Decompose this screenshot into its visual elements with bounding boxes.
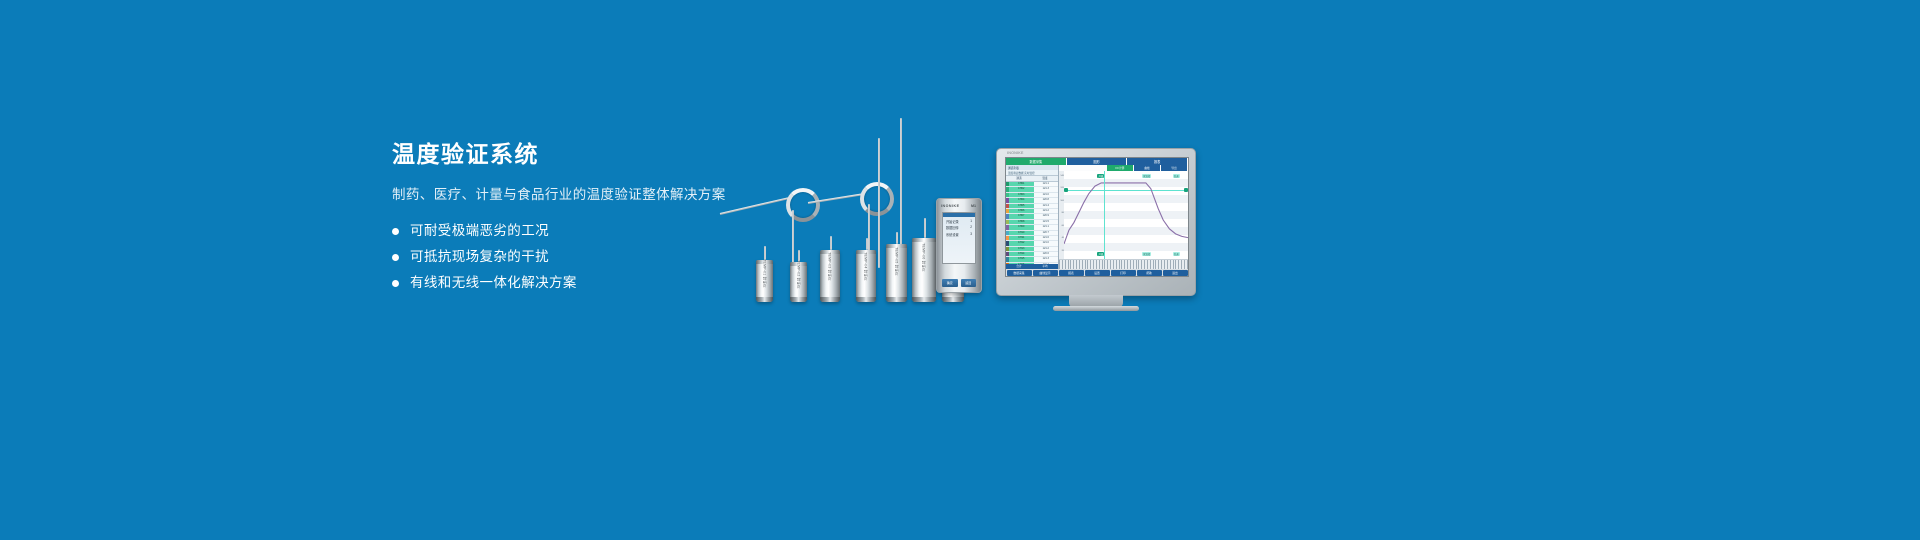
handheld-model-label: M1 bbox=[971, 204, 976, 208]
tab-graph[interactable]: 图形 bbox=[1067, 158, 1128, 165]
x-axis-tick bbox=[1082, 260, 1083, 269]
x-axis-tick bbox=[1175, 260, 1176, 269]
x-axis-tick bbox=[1138, 260, 1139, 269]
channel-value-cell: 121.2 bbox=[1034, 209, 1059, 213]
channel-value-cell: 121.2 bbox=[1034, 247, 1059, 251]
x-axis-tick bbox=[1065, 260, 1066, 269]
chart-x-axis bbox=[1059, 259, 1188, 269]
handheld-menu-value: 2 bbox=[970, 225, 972, 230]
channel-name-cell: CH10 bbox=[1009, 231, 1034, 235]
channel-name-cell: CH03 bbox=[1009, 193, 1034, 197]
x-axis-tick bbox=[1133, 260, 1134, 269]
x-axis-tick bbox=[1187, 260, 1188, 269]
channel-name-cell: CH07 bbox=[1009, 214, 1034, 218]
x-axis-tick bbox=[1161, 260, 1162, 269]
monitor-base bbox=[1053, 306, 1139, 311]
bullet-dot-icon bbox=[392, 280, 399, 287]
channel-name-cell: CH12 bbox=[1009, 241, 1034, 245]
channel-name-cell: CH05 bbox=[1009, 204, 1034, 208]
x-axis-tick bbox=[1073, 260, 1074, 269]
chart-panel: F0 计算 曲线 导出 14012010080604020 开始 bbox=[1059, 165, 1188, 269]
column-header-temp: 温度 bbox=[1032, 176, 1058, 181]
x-axis-tick bbox=[1093, 260, 1094, 269]
x-axis-tick bbox=[1068, 260, 1069, 269]
x-axis-tick bbox=[1079, 260, 1080, 269]
x-axis-tick bbox=[1121, 260, 1122, 269]
feature-bullet-label: 可耐受极端恶劣的工况 bbox=[410, 222, 549, 240]
data-logger: TEMP-02 验证仪 bbox=[790, 262, 807, 302]
x-axis-tick bbox=[1124, 260, 1125, 269]
software-bottom-toolbar: 数据采集曲线显示报表设置打印帮助退出 bbox=[1006, 269, 1188, 276]
channel-name-cell: CH01 bbox=[1009, 182, 1034, 186]
x-axis-tick bbox=[1158, 260, 1159, 269]
x-axis-tick bbox=[1130, 260, 1131, 269]
channel-name-cell: CH14 bbox=[1009, 252, 1034, 256]
channel-value-cell: 120.6 bbox=[1034, 252, 1059, 256]
x-axis-tick bbox=[1113, 260, 1114, 269]
x-axis-tick bbox=[1116, 260, 1117, 269]
software-body: 通道列表 温度验证数据 实时监控 通道 温度 CH01121.1CH02121.… bbox=[1006, 165, 1188, 269]
channel-value-cell: 121.4 bbox=[1034, 204, 1059, 208]
probe-needle bbox=[792, 210, 794, 268]
data-logger: TEMP-01 验证仪 bbox=[756, 260, 773, 302]
validation-software-monitor: INONIKE 数据采集 图形 报表 通道列表 温度验证数据 实时监控 通道 温… bbox=[996, 148, 1196, 296]
x-axis-tick bbox=[1096, 260, 1097, 269]
logger-label: TEMP-03 验证仪 bbox=[828, 252, 833, 281]
handheld-menu-row[interactable]: 系统设置 3 bbox=[943, 230, 975, 237]
x-axis-tick bbox=[1136, 260, 1137, 269]
channel-value-cell: 121.0 bbox=[1034, 193, 1059, 197]
toolbar-button[interactable]: 打印 bbox=[1111, 270, 1136, 276]
channel-name-cell: CH15 bbox=[1009, 257, 1034, 261]
cursor-tag-start-bottom: 开始 bbox=[1097, 252, 1104, 256]
x-axis-tick bbox=[1085, 260, 1086, 269]
logger-stem bbox=[830, 236, 832, 250]
x-axis-tick bbox=[1173, 260, 1174, 269]
cursor-tag-end-bottom: 结束 bbox=[1173, 252, 1180, 256]
tab-report[interactable]: 报表 bbox=[1127, 158, 1188, 165]
hero-banner: 温度验证系统 制药、医疗、计量与食品行业的温度验证整体解决方案 可耐受极端恶劣的… bbox=[0, 0, 1920, 540]
toolbar-button[interactable]: 数据采集 bbox=[1007, 270, 1032, 276]
column-header-channel: 通道 bbox=[1006, 176, 1032, 181]
cursor-tag-end: 结束 bbox=[1173, 174, 1180, 178]
channel-value-cell: 121.1 bbox=[1034, 182, 1059, 186]
x-axis-tick bbox=[1150, 260, 1151, 269]
x-axis-tick bbox=[1141, 260, 1142, 269]
x-axis-tick bbox=[1087, 260, 1088, 269]
handheld-menu-value: 3 bbox=[970, 232, 972, 237]
x-axis-tick bbox=[1144, 260, 1145, 269]
logger-label: TEMP-01 验证仪 bbox=[762, 259, 767, 288]
handheld-key-back[interactable]: 返回 bbox=[961, 279, 977, 287]
toolbar-button[interactable]: 退出 bbox=[1163, 270, 1188, 276]
logger-stem bbox=[896, 232, 898, 244]
monitor-screen: 数据采集 图形 报表 通道列表 温度验证数据 实时监控 通道 温度 CH0112… bbox=[1005, 157, 1189, 277]
handheld-key-confirm[interactable]: 确定 bbox=[942, 279, 958, 287]
handheld-menu-value: 1 bbox=[970, 219, 972, 224]
handheld-brand-label: INONIKE bbox=[941, 204, 959, 208]
data-logger: TEMP-03 验证仪 bbox=[820, 250, 840, 302]
product-photo-group: TEMP-01 验证仪 TEMP-02 验证仪 TEMP-03 验证仪 TEMP… bbox=[700, 110, 1220, 325]
temperature-curve bbox=[1064, 171, 1188, 259]
logger-stem bbox=[764, 246, 766, 260]
x-axis-tick bbox=[1178, 260, 1179, 269]
channel-name-cell: CH11 bbox=[1009, 236, 1034, 240]
x-axis-tick bbox=[1167, 260, 1168, 269]
channel-value-cell: 121.3 bbox=[1034, 187, 1059, 191]
feature-bullet-label: 有线和无线一体化解决方案 bbox=[410, 274, 577, 292]
x-axis-tick bbox=[1110, 260, 1111, 269]
cursor-tag-hold: 保温段 bbox=[1142, 174, 1151, 178]
handheld-reader-device[interactable]: INONIKE M1 开始记录 1 数据回传 2 系统设置 3 确定 bbox=[936, 198, 982, 293]
cursor-tag-start-top: 开始 bbox=[1097, 174, 1104, 178]
data-logger: TEMP-06 验证仪 bbox=[912, 238, 936, 302]
x-axis-tick bbox=[1076, 260, 1077, 269]
toolbar-button[interactable]: 报表 bbox=[1059, 270, 1084, 276]
channel-value-cell: 121.0 bbox=[1034, 241, 1059, 245]
logger-label: TEMP-04 验证仪 bbox=[864, 252, 869, 281]
channel-value-cell: 120.8 bbox=[1034, 198, 1059, 202]
data-logger: TEMP-04 验证仪 bbox=[856, 250, 876, 302]
x-axis-tick bbox=[1147, 260, 1148, 269]
handheld-keypad: 确定 返回 bbox=[942, 279, 976, 287]
toolbar-button[interactable]: 设置 bbox=[1085, 270, 1110, 276]
probe-wire bbox=[720, 197, 791, 215]
x-axis-tick bbox=[1119, 260, 1120, 269]
x-axis-tick bbox=[1099, 260, 1100, 269]
channel-value-cell: 121.6 bbox=[1034, 236, 1059, 240]
temperature-chart: 14012010080604020 开始 开始 保温段 保温段 结束 结束 bbox=[1059, 171, 1188, 259]
channel-value-cell: 120.7 bbox=[1034, 231, 1059, 235]
data-logger: TEMP-05 验证仪 bbox=[886, 244, 907, 302]
feature-bullet-label: 可抵抗现场复杂的干扰 bbox=[410, 248, 549, 266]
toolbar-button[interactable]: 帮助 bbox=[1137, 270, 1162, 276]
handheld-screen: 开始记录 1 数据回传 2 系统设置 3 bbox=[942, 212, 976, 264]
channel-table: 通道列表 温度验证数据 实时监控 通道 温度 CH01121.1CH02121.… bbox=[1006, 165, 1059, 269]
x-axis-tick bbox=[1184, 260, 1185, 269]
logger-stem bbox=[866, 238, 868, 250]
x-axis-tick bbox=[1090, 260, 1091, 269]
x-axis-tick bbox=[1155, 260, 1156, 269]
handheld-menu-label: 数据回传 bbox=[946, 225, 959, 230]
x-axis-tick bbox=[1104, 260, 1105, 269]
channel-value-cell: 121.1 bbox=[1034, 225, 1059, 229]
x-axis-tick bbox=[1153, 260, 1154, 269]
channel-name-cell: CH08 bbox=[1009, 220, 1034, 224]
logger-stem bbox=[924, 218, 926, 238]
bullet-dot-icon bbox=[392, 228, 399, 235]
x-axis-tick bbox=[1164, 260, 1165, 269]
channel-name-cell: CH06 bbox=[1009, 209, 1034, 213]
x-axis-tick bbox=[1070, 260, 1071, 269]
channel-table-rows: CH01121.1CH02121.3CH03121.0CH04120.8CH05… bbox=[1006, 182, 1058, 264]
channel-name-cell: CH13 bbox=[1009, 247, 1034, 251]
x-axis-tick bbox=[1127, 260, 1128, 269]
tab-data-acquisition[interactable]: 数据采集 bbox=[1006, 158, 1067, 165]
logger-label: TEMP-06 验证仪 bbox=[922, 243, 927, 272]
bullet-dot-icon bbox=[392, 254, 399, 261]
toolbar-button[interactable]: 曲线显示 bbox=[1033, 270, 1058, 276]
x-axis-tick bbox=[1170, 260, 1171, 269]
logger-label: TEMP-05 验证仪 bbox=[894, 247, 899, 276]
software-top-tabs: 数据采集 图形 报表 bbox=[1006, 158, 1188, 165]
channel-name-cell: CH09 bbox=[1009, 225, 1034, 229]
series-line bbox=[1064, 183, 1188, 244]
logger-label: TEMP-02 验证仪 bbox=[796, 261, 801, 290]
channel-value-cell: 120.9 bbox=[1034, 214, 1059, 218]
x-axis-tick bbox=[1062, 260, 1063, 269]
x-axis-tick bbox=[1181, 260, 1182, 269]
handheld-menu-label: 系统设置 bbox=[946, 232, 959, 237]
x-axis-tick bbox=[1107, 260, 1108, 269]
monitor-brand-label: INONIKE bbox=[1007, 151, 1024, 155]
channel-value-cell: 121.3 bbox=[1034, 257, 1059, 261]
probe-coil-icon bbox=[860, 182, 894, 216]
handheld-menu-label: 开始记录 bbox=[946, 219, 959, 224]
channel-value-cell: 121.5 bbox=[1034, 220, 1059, 224]
cursor-tag-hold-bottom: 保温段 bbox=[1142, 252, 1151, 256]
channel-name-cell: CH02 bbox=[1009, 187, 1034, 191]
x-axis-tick bbox=[1102, 260, 1103, 269]
channel-name-cell: CH04 bbox=[1009, 198, 1034, 202]
x-axis-tick bbox=[1059, 260, 1060, 269]
chart-cursor-line[interactable] bbox=[1104, 171, 1105, 259]
